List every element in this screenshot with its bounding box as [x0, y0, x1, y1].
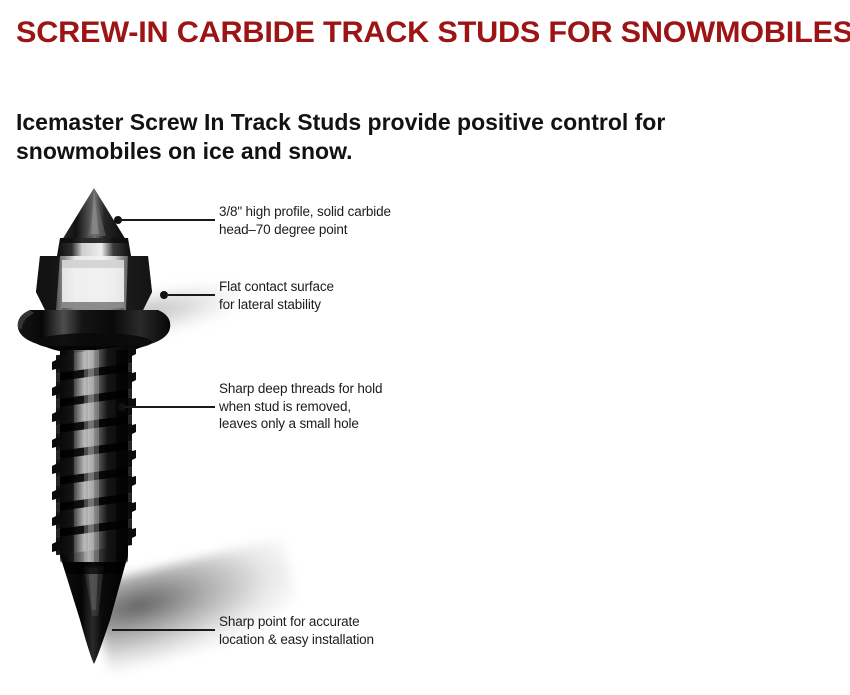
- carbide-track-stud-image: [0, 170, 250, 690]
- callout-carbide-head: 3/8" high profile, solid carbide head–70…: [219, 203, 391, 238]
- page-title: SCREW-IN CARBIDE TRACK STUDS FOR SNOWMOB…: [16, 16, 850, 50]
- callout-sharp-point-line-2: location & easy installation: [219, 631, 374, 649]
- leader-line-flat-contact-surface: [166, 294, 215, 296]
- intro-line-1: Icemaster Screw In Track Studs provide p…: [16, 108, 776, 137]
- callout-carbide-head-line-2: head–70 degree point: [219, 221, 391, 239]
- callout-flat-contact-surface: Flat contact surface for lateral stabili…: [219, 278, 334, 313]
- callout-sharp-point: Sharp point for accurate location & easy…: [219, 613, 374, 648]
- callout-sharp-deep-threads-line-1: Sharp deep threads for hold: [219, 380, 382, 398]
- intro-paragraph: Icemaster Screw In Track Studs provide p…: [16, 108, 776, 166]
- callout-flat-contact-surface-line-2: for lateral stability: [219, 296, 334, 314]
- callout-sharp-point-line-1: Sharp point for accurate: [219, 613, 374, 631]
- callout-sharp-deep-threads: Sharp deep threads for hold when stud is…: [219, 380, 382, 433]
- leader-line-sharp-point: [112, 629, 215, 631]
- leader-line-sharp-deep-threads: [124, 406, 215, 408]
- callout-sharp-deep-threads-line-2: when stud is removed,: [219, 398, 382, 416]
- callout-sharp-deep-threads-line-3: leaves only a small hole: [219, 415, 382, 433]
- intro-line-2: snowmobiles on ice and snow.: [16, 137, 776, 166]
- product-diagram: 3/8" high profile, solid carbide head–70…: [0, 170, 850, 695]
- callout-carbide-head-line-1: 3/8" high profile, solid carbide: [219, 203, 391, 221]
- leader-line-carbide-head: [120, 219, 215, 221]
- product-info-page: SCREW-IN CARBIDE TRACK STUDS FOR SNOWMOB…: [0, 0, 850, 695]
- callout-flat-contact-surface-line-1: Flat contact surface: [219, 278, 334, 296]
